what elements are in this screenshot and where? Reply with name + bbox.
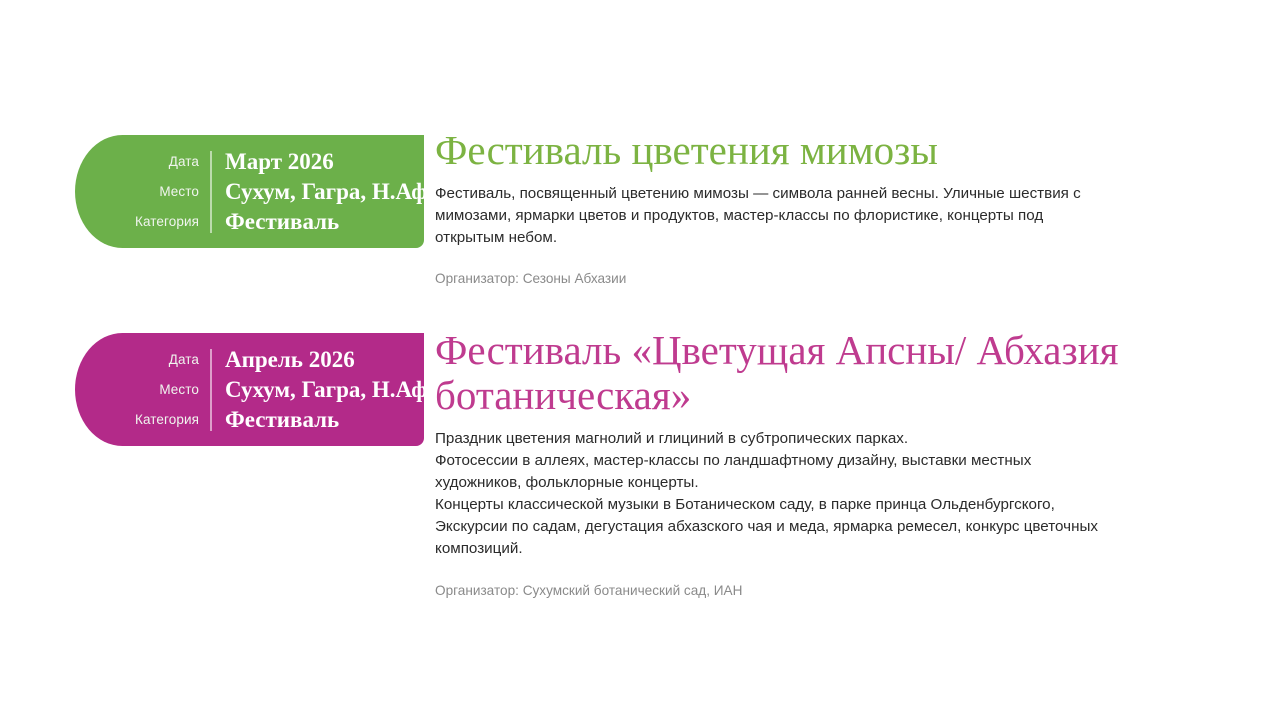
event-badge-wrapper: Дата Место Категория Март 2026 Сухум, Га… <box>0 135 435 248</box>
event-badge: Дата Место Категория Март 2026 Сухум, Га… <box>75 135 424 248</box>
badge-value-column: Март 2026 Сухум, Гагра, Н.Афон Фестиваль <box>212 147 424 237</box>
event-card-apsny: Дата Место Категория Апрель 2026 Сухум, … <box>0 333 1280 601</box>
badge-inner: Дата Место Категория Март 2026 Сухум, Га… <box>135 147 424 237</box>
badge-label-category: Категория <box>135 405 199 435</box>
badge-value-place: Сухум, Гагра, Н.Афон <box>225 375 424 405</box>
badge-value-column: Апрель 2026 Сухум, Гагра, Н.Афон Фестива… <box>212 345 424 435</box>
description-line: Праздник цветения магнолий и глициний в … <box>435 428 1150 450</box>
event-content: Фестиваль «Цветущая Апсны/ Абхазия ботан… <box>435 333 1280 601</box>
event-content: Фестиваль цветения мимозы Фестиваль, пос… <box>435 135 1280 289</box>
event-badge: Дата Место Категория Апрель 2026 Сухум, … <box>75 333 424 446</box>
badge-value-category: Фестиваль <box>225 207 424 237</box>
badge-label-place: Место <box>135 375 199 405</box>
description-line: художников, фольклорные концерты. <box>435 472 1150 494</box>
event-title: Фестиваль «Цветущая Апсны/ Абхазия ботан… <box>435 328 1180 418</box>
event-description: Праздник цветения магнолий и глициний в … <box>435 428 1150 560</box>
description-line: Концерты классической музыки в Ботаничес… <box>435 494 1150 516</box>
description-line: Фотосессии в аллеях, мастер-классы по ла… <box>435 450 1150 472</box>
badge-inner: Дата Место Категория Апрель 2026 Сухум, … <box>135 345 424 435</box>
badge-label-column: Дата Место Категория <box>135 147 210 237</box>
event-title: Фестиваль цветения мимозы <box>435 128 1180 173</box>
description-line: мимозами, ярмарки цветов и продуктов, ма… <box>435 205 1140 227</box>
badge-value-place: Сухум, Гагра, Н.Афон <box>225 177 424 207</box>
badge-value-date: Апрель 2026 <box>225 345 424 375</box>
event-card-mimosa: Дата Место Категория Март 2026 Сухум, Га… <box>0 135 1280 289</box>
badge-label-column: Дата Место Категория <box>135 345 210 435</box>
event-organizer: Организатор: Сухумский ботанический сад,… <box>435 581 1180 601</box>
badge-label-date: Дата <box>135 147 199 177</box>
event-description: Фестиваль, посвященный цветению мимозы —… <box>435 183 1140 249</box>
badge-value-date: Март 2026 <box>225 147 424 177</box>
title-line: Фестиваль «Цветущая Апсны/ <box>435 327 966 373</box>
event-badge-wrapper: Дата Место Категория Апрель 2026 Сухум, … <box>0 333 435 446</box>
description-line: Экскурсии по садам, дегустация абхазског… <box>435 516 1150 538</box>
badge-value-category: Фестиваль <box>225 405 424 435</box>
event-list-page: Дата Место Категория Март 2026 Сухум, Га… <box>0 0 1280 714</box>
description-line: Фестиваль, посвященный цветению мимозы —… <box>435 183 1140 205</box>
event-organizer: Организатор: Сезоны Абхазии <box>435 269 1180 289</box>
badge-label-place: Место <box>135 177 199 207</box>
badge-label-date: Дата <box>135 345 199 375</box>
badge-label-category: Категория <box>135 207 199 237</box>
description-line: открытым небом. <box>435 227 1140 249</box>
description-line: композиций. <box>435 538 1150 560</box>
